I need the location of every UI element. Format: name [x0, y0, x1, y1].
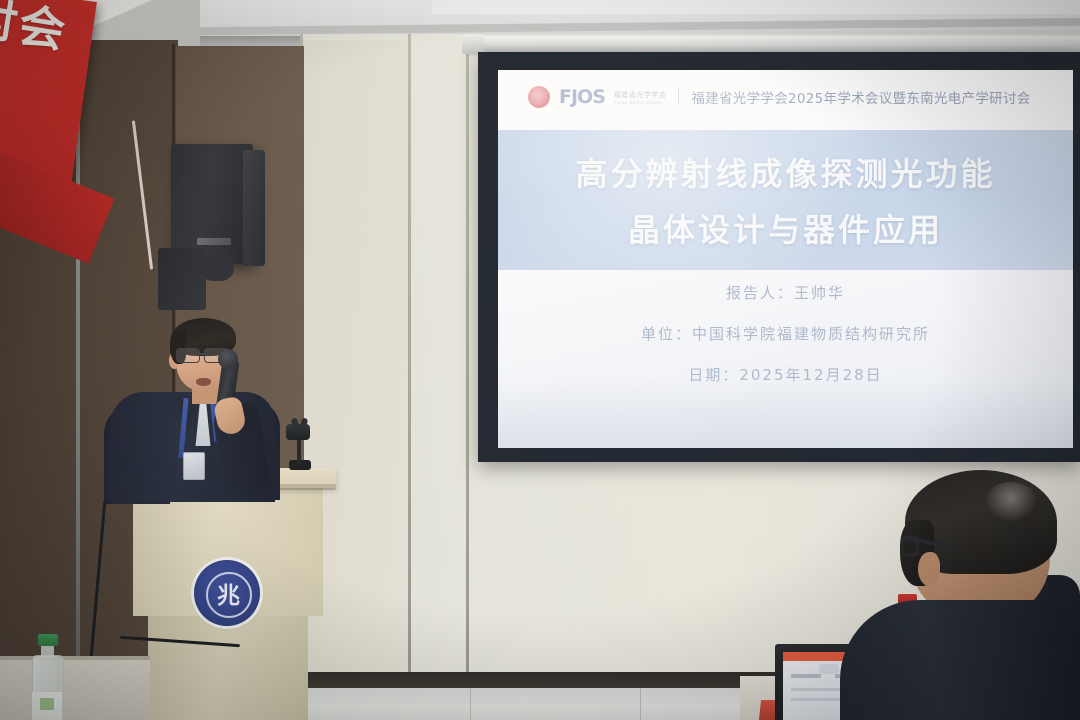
slide-meta-presenter: 报告人：王帅华	[726, 282, 845, 303]
fjos-logo-text: FJOS	[559, 86, 605, 108]
water-bottle-left-label-mark	[40, 698, 54, 710]
floor-tile-line	[470, 688, 471, 720]
wall-panel-seam	[408, 34, 411, 682]
slide-meta-block: 报告人：王帅华 单位：中国科学院福建物质结构研究所 日期：2025年12月28日	[498, 282, 1073, 385]
fjos-logo-cn-line2: Fujian Optical Society	[614, 100, 667, 105]
fjos-logo-icon	[528, 86, 550, 108]
slide-header-title: 福建省光学学会2025年学术会议暨东南光电产学研讨会	[691, 87, 1030, 107]
fjos-logo-cn-line1: 福建省光学学会	[614, 90, 667, 100]
slide-title-band: 高分辨射线成像探测光功能 晶体设计与器件应用	[498, 130, 1073, 270]
presentation-slide: FJOS 福建省光学学会 Fujian Optical Society 福建省光…	[498, 70, 1073, 448]
banner-text: 讨会	[0, 0, 73, 61]
water-bottle-left-cap	[38, 634, 58, 646]
podium-base	[148, 612, 308, 720]
loudspeaker-side	[243, 150, 265, 266]
floor-tile-line	[640, 688, 641, 720]
emblem-glyph: 兆	[194, 560, 260, 626]
conference-photo-scene: 讨会 FJOS 福建省光学学会 Fujian Optical Society 福…	[0, 0, 1080, 720]
loudspeaker-brand-label	[197, 238, 231, 245]
loudspeaker-icon	[171, 144, 253, 264]
ceiling-beam	[432, 0, 1080, 14]
laptop-screen-row	[791, 674, 821, 678]
slide-meta-affiliation: 单位：中国科学院福建物质结构研究所	[641, 323, 930, 344]
audience-shoulder-left	[840, 600, 1080, 720]
presenter-mouth	[196, 378, 211, 386]
water-bottle-left-neck	[41, 644, 54, 658]
loudspeaker-bracket	[158, 248, 206, 310]
slide-title-line-2: 晶体设计与器件应用	[628, 205, 943, 251]
presenter-badge	[183, 452, 205, 480]
wall-panel-seam	[466, 34, 469, 682]
fjos-logo-chinese: 福建省光学学会 Fujian Optical Society	[614, 90, 667, 105]
slide-header: FJOS 福建省光学学会 Fujian Optical Society 福建省光…	[498, 76, 1073, 118]
loudspeaker-arm	[200, 255, 234, 281]
audience-ear	[918, 552, 940, 586]
front-table-left	[0, 660, 150, 720]
laptop-screen-element	[819, 664, 839, 674]
slide-bottom-sheen	[498, 378, 1073, 448]
projector-screen-housing-cap	[462, 34, 484, 54]
glasses-lens-left	[176, 348, 200, 363]
logo-divider	[678, 89, 679, 105]
audience-hair-gray-patch	[985, 482, 1037, 522]
audience-glasses-hinge	[901, 536, 919, 556]
university-emblem-icon: 兆	[194, 560, 260, 626]
projector-screen-housing	[466, 36, 1080, 52]
slide-title-line-1: 高分辨射线成像探测光功能	[575, 149, 995, 195]
slide-meta-date: 日期：2025年12月28日	[688, 364, 882, 385]
